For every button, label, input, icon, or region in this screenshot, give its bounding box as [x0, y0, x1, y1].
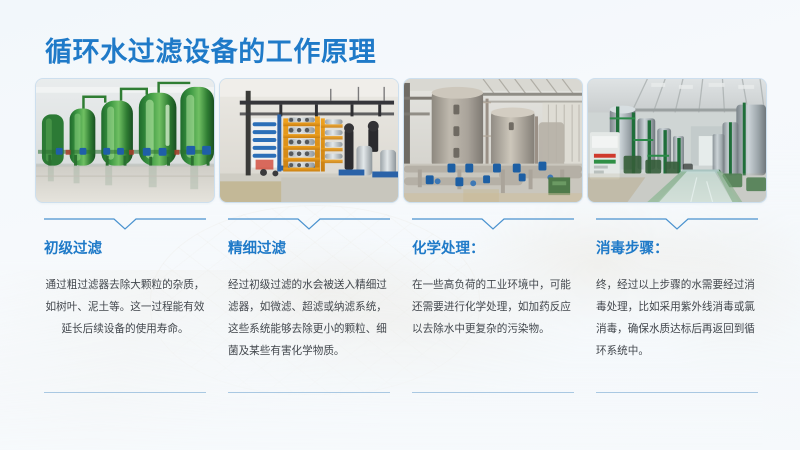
- step-divider-2: [228, 217, 390, 231]
- bottom-rule-1: [35, 392, 215, 393]
- ro-membrane-skid-photo: [219, 78, 399, 203]
- step-column-4: 消毒步骤： 终，经过以上步骤的水需要经过消毒处理，比如采用紫外线消毒或氯消毒，确…: [587, 78, 767, 362]
- step-heading-2: 精细过滤: [228, 237, 399, 258]
- bottom-rule-4: [587, 392, 767, 393]
- step-heading-1: 初级过滤: [44, 237, 215, 258]
- step-divider-1: [44, 217, 206, 231]
- step-body-4: 终，经过以上步骤的水需要经过消毒处理，比如采用紫外线消毒或氯消毒，确保水质达标后…: [596, 274, 758, 362]
- step-heading-4: 消毒步骤：: [596, 237, 767, 258]
- steps-row: 初级过滤 通过粗过滤器去除大颗粒的杂质，如树叶、泥土等。这一过程能有效延长后续设…: [35, 78, 767, 362]
- chemical-dosing-tanks-photo: [403, 78, 583, 203]
- step-column-2: 精细过滤 经过初级过滤的水会被送入精细过滤器，如微滤、超滤或纳滤系统，这些系统能…: [219, 78, 399, 362]
- bottom-rule-3: [403, 392, 583, 393]
- step-column-1: 初级过滤 通过粗过滤器去除大颗粒的杂质，如树叶、泥土等。这一过程能有效延长后续设…: [35, 78, 215, 362]
- page-title: 循环水过滤设备的工作原理: [45, 30, 376, 69]
- step-divider-3: [412, 217, 574, 231]
- step-column-3: 化学处理： 在一些高负荷的工业环境中，可能还需要进行化学处理，如加药反应以去除水…: [403, 78, 583, 362]
- green-filter-tanks-photo: [35, 78, 215, 203]
- step-body-2: 经过初级过滤的水会被送入精细过滤器，如微滤、超滤或纳滤系统，这些系统能够去除更小…: [228, 274, 390, 362]
- disinfection-plant-hall-photo: [587, 78, 767, 203]
- slide-page: 循环水过滤设备的工作原理: [0, 0, 800, 450]
- bottom-rules: [35, 392, 780, 393]
- step-divider-4: [596, 217, 758, 231]
- step-body-1: 通过粗过滤器去除大颗粒的杂质，如树叶、泥土等。这一过程能有效延长后续设备的使用寿…: [44, 274, 206, 340]
- step-heading-3: 化学处理：: [412, 237, 583, 258]
- step-body-3: 在一些高负荷的工业环境中，可能还需要进行化学处理，如加药反应以去除水中更复杂的污…: [412, 274, 574, 340]
- bottom-rule-2: [219, 392, 399, 393]
